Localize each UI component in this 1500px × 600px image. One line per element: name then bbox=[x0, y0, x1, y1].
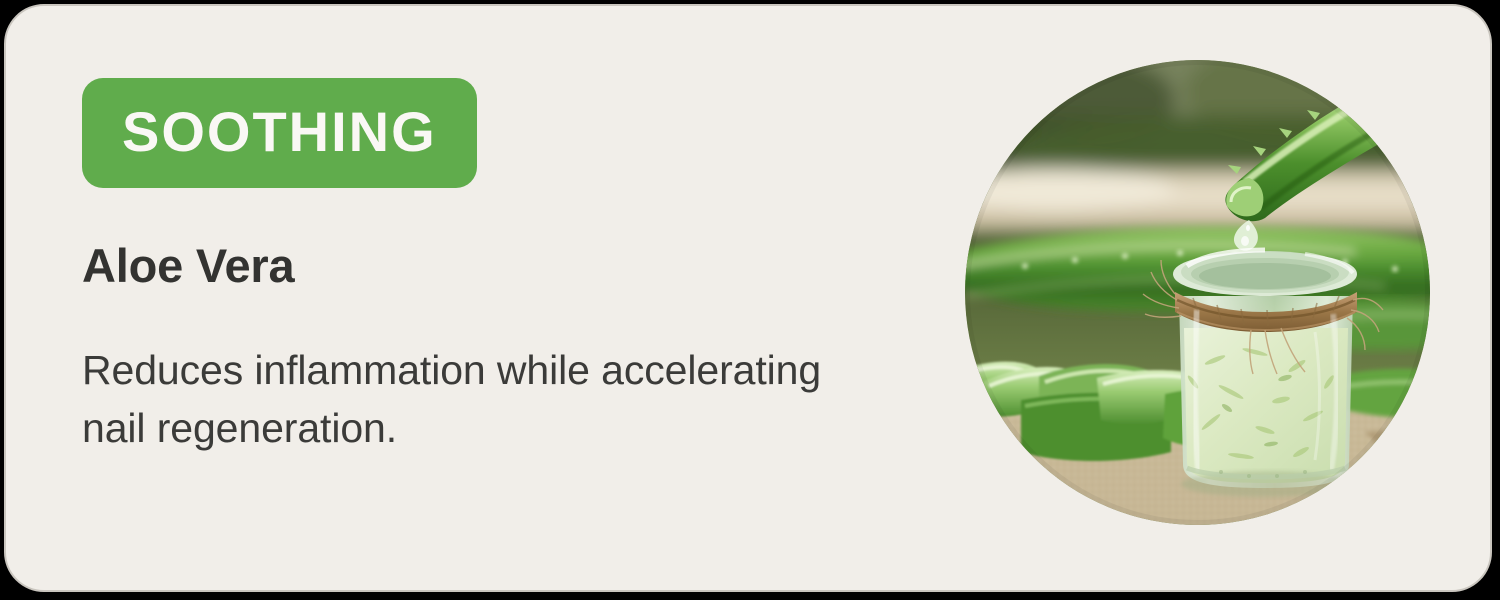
ingredient-photo bbox=[965, 60, 1430, 525]
category-badge-label: SOOTHING bbox=[122, 104, 437, 160]
ingredient-card: SOOTHING Aloe Vera Reduces inflammation … bbox=[4, 4, 1492, 592]
ingredient-text-column: SOOTHING Aloe Vera Reduces inflammation … bbox=[82, 78, 912, 457]
aloe-vera-photo-illustration bbox=[965, 60, 1430, 525]
category-badge: SOOTHING bbox=[82, 78, 477, 188]
ingredient-description: Reduces inflammation while accelerating … bbox=[82, 341, 822, 457]
ingredient-title: Aloe Vera bbox=[82, 242, 912, 289]
